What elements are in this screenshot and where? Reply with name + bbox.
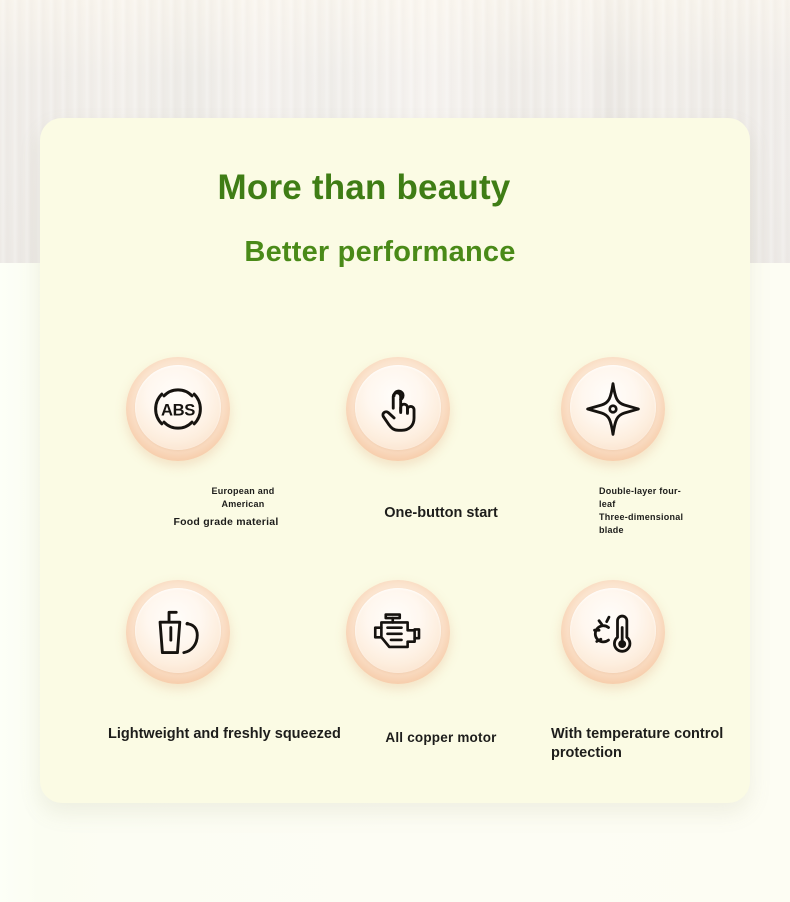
- caption-line: Three-dimensional: [599, 511, 759, 524]
- feature-card: More than beauty Better performance ABS …: [40, 118, 750, 803]
- four-point-blade-icon: [561, 357, 665, 461]
- feature-item-food-grade[interactable]: ABS European and American Food grade mat…: [126, 357, 316, 577]
- caption-line: American: [173, 498, 313, 511]
- feature-caption-primary: All copper motor: [346, 728, 536, 747]
- feature-item-one-button-start[interactable]: One-button start: [346, 357, 536, 577]
- caption-line: leaf: [599, 498, 759, 511]
- feature-item-temperature-control[interactable]: With temperature control protection: [561, 580, 776, 780]
- caption-line: European and: [173, 485, 313, 498]
- page-subtitle: Better performance: [40, 238, 750, 267]
- juice-cup-icon: [126, 580, 230, 684]
- caption-line: Double-layer four-: [599, 485, 759, 498]
- svg-text:ABS: ABS: [161, 401, 195, 420]
- feature-item-blade[interactable]: Double-layer four- leaf Three-dimensiona…: [561, 357, 761, 587]
- feature-caption-primary: Lightweight and freshly squeezed: [108, 725, 348, 744]
- feature-caption-primary: Food grade material: [131, 515, 321, 529]
- temperature-control-icon: [561, 580, 665, 684]
- feature-item-freshly-squeezed[interactable]: Lightweight and freshly squeezed: [126, 580, 336, 780]
- caption-line: blade: [599, 524, 759, 537]
- motor-engine-icon: [346, 580, 450, 684]
- feature-caption-secondary: European and American: [173, 485, 313, 511]
- feature-caption-primary: With temperature control protection: [551, 725, 786, 763]
- feature-caption-secondary: Double-layer four- leaf Three-dimensiona…: [599, 485, 759, 537]
- tap-hand-icon: [346, 357, 450, 461]
- abs-icon: ABS: [126, 357, 230, 461]
- feature-caption-primary: One-button start: [346, 504, 536, 523]
- page-title: More than beauty: [40, 170, 750, 205]
- feature-item-copper-motor[interactable]: All copper motor: [346, 580, 536, 780]
